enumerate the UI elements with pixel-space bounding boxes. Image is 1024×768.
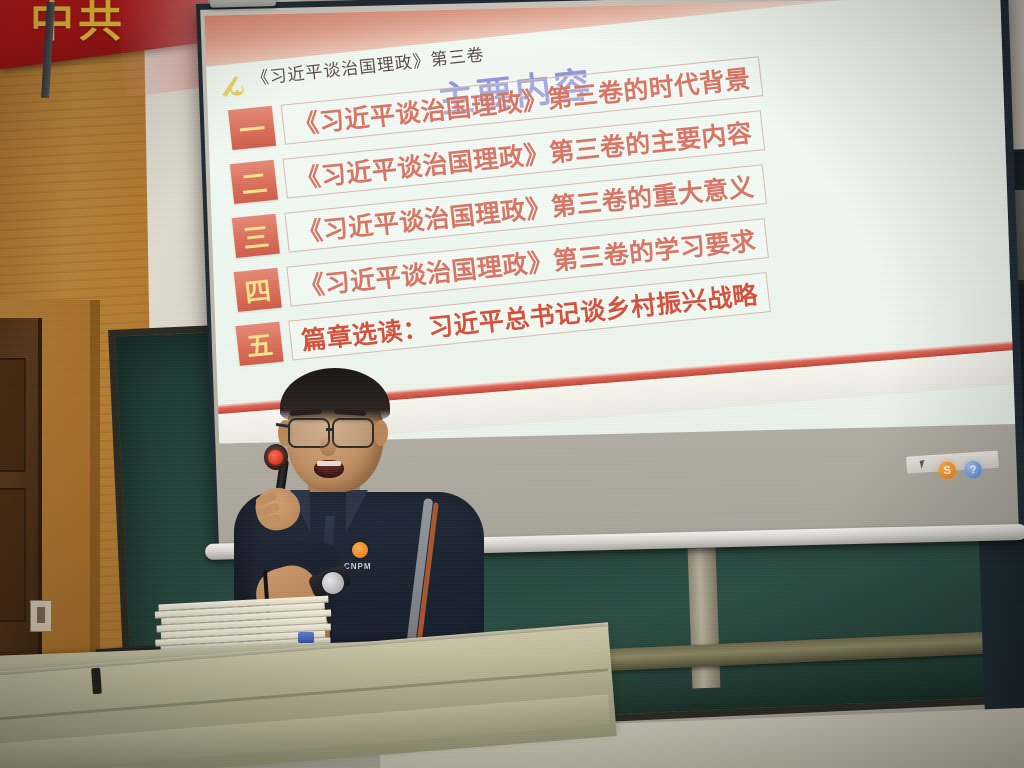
door-panel-lower xyxy=(0,488,26,622)
slide-row-number: 四 xyxy=(234,268,282,312)
presenter-nose xyxy=(320,436,336,456)
presenter-mouth xyxy=(314,460,344,478)
sogou-ime-icon[interactable]: S xyxy=(938,461,956,479)
lecture-hall-photo: 中共 《习近平谈治国理政》第三卷 主要内容 xyxy=(0,0,1024,768)
water-bottle-cap xyxy=(298,632,314,643)
glasses-bridge xyxy=(326,428,334,431)
podium-cable-slot xyxy=(91,668,102,695)
slide-row-number: 三 xyxy=(232,214,280,258)
chalkboard-support-post xyxy=(688,548,721,689)
help-icon[interactable]: ? xyxy=(964,461,982,479)
light-switch[interactable] xyxy=(30,600,52,632)
slide-row-number: 一 xyxy=(228,106,276,150)
slide-row-number: 二 xyxy=(230,160,278,204)
door-panel-upper xyxy=(0,358,26,472)
presenter-ear-right xyxy=(374,420,388,446)
slide-row-number: 五 xyxy=(235,322,283,366)
shirt-logo-icon xyxy=(352,542,368,558)
microphone-led-icon xyxy=(268,450,283,465)
shirt-logo-text: CNPM xyxy=(344,562,372,571)
glasses-lens-right xyxy=(332,418,374,448)
shirt-collar-right xyxy=(346,490,368,532)
room-door[interactable] xyxy=(0,318,42,698)
